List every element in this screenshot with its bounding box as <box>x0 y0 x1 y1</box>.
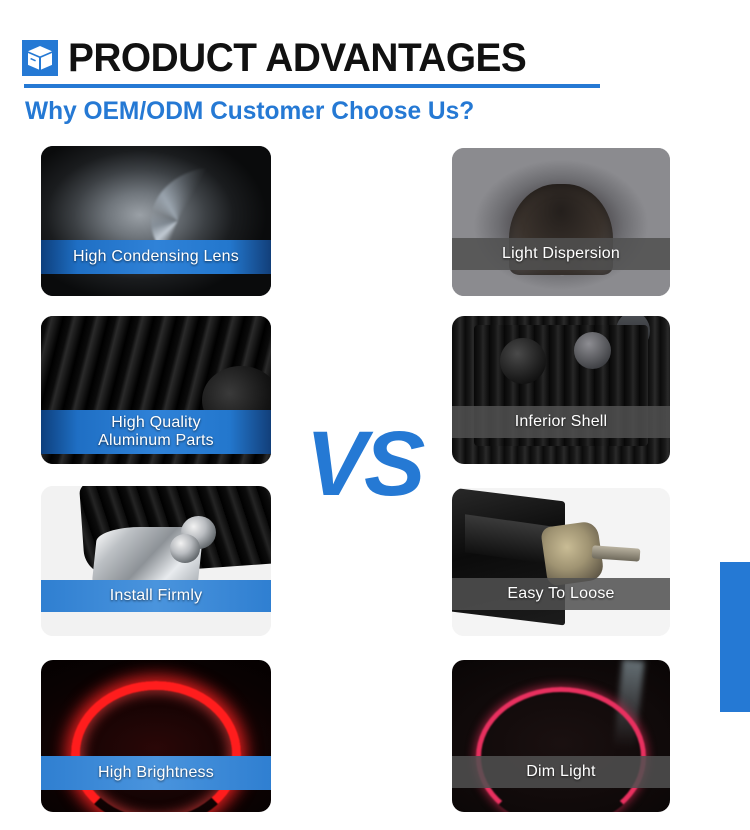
card-label: Light Dispersion <box>452 238 670 270</box>
card-label: High Condensing Lens <box>41 240 271 274</box>
loose-brass-nut-photo <box>452 488 670 636</box>
vs-separator: VS <box>284 418 444 510</box>
product-advantages-infographic: PRODUCT ADVANTAGES Why OEM/ODM Customer … <box>0 0 750 830</box>
right-edge-blue-tab[interactable] <box>720 562 750 712</box>
box-icon <box>22 40 58 76</box>
card-label: Dim Light <box>452 756 670 788</box>
card-label: Easy To Loose <box>452 578 670 610</box>
header: PRODUCT ADVANTAGES Why OEM/ODM Customer … <box>22 38 622 126</box>
bolt-head-icon <box>500 338 546 384</box>
comparison-row: High Brightness Dim Light <box>0 654 750 819</box>
card-label: Install Firmly <box>41 580 271 612</box>
card-label: Inferior Shell <box>452 406 670 438</box>
advantage-card-bad[interactable]: Light Dispersion <box>452 148 670 296</box>
card-label-line-1: High Quality <box>111 414 201 432</box>
advantage-card-good[interactable]: High Brightness <box>41 660 271 812</box>
title-row: PRODUCT ADVANTAGES <box>22 38 622 78</box>
advantage-card-bad[interactable]: Inferior Shell <box>452 316 670 464</box>
page-subtitle: Why OEM/ODM Customer Choose Us? <box>25 98 610 126</box>
advantage-card-good[interactable]: Install Firmly <box>41 486 271 636</box>
knob-icon <box>170 534 200 563</box>
card-label-line-2: Aluminum Parts <box>98 432 214 450</box>
card-label: High Brightness <box>41 756 271 790</box>
advantage-card-good[interactable]: High Quality Aluminum Parts <box>41 316 271 464</box>
comparison-row: High Condensing Lens Light Dispersion <box>0 146 750 316</box>
dim-arc-shape <box>476 687 646 812</box>
dim-red-arc-light-photo <box>452 660 670 812</box>
page-title: PRODUCT ADVANTAGES <box>68 38 526 78</box>
advantage-card-bad[interactable]: Easy To Loose <box>452 488 670 636</box>
card-label: High Quality Aluminum Parts <box>41 410 271 454</box>
advantage-card-good[interactable]: High Condensing Lens <box>41 146 271 296</box>
title-underline <box>24 84 600 88</box>
square-lamp-dispersion-photo <box>452 148 670 296</box>
black-plastic-shell-photo <box>452 316 670 464</box>
chrome-mounting-bracket-photo <box>41 486 271 636</box>
halo-ring-shape <box>71 681 241 812</box>
advantage-card-bad[interactable]: Dim Light <box>452 660 670 812</box>
